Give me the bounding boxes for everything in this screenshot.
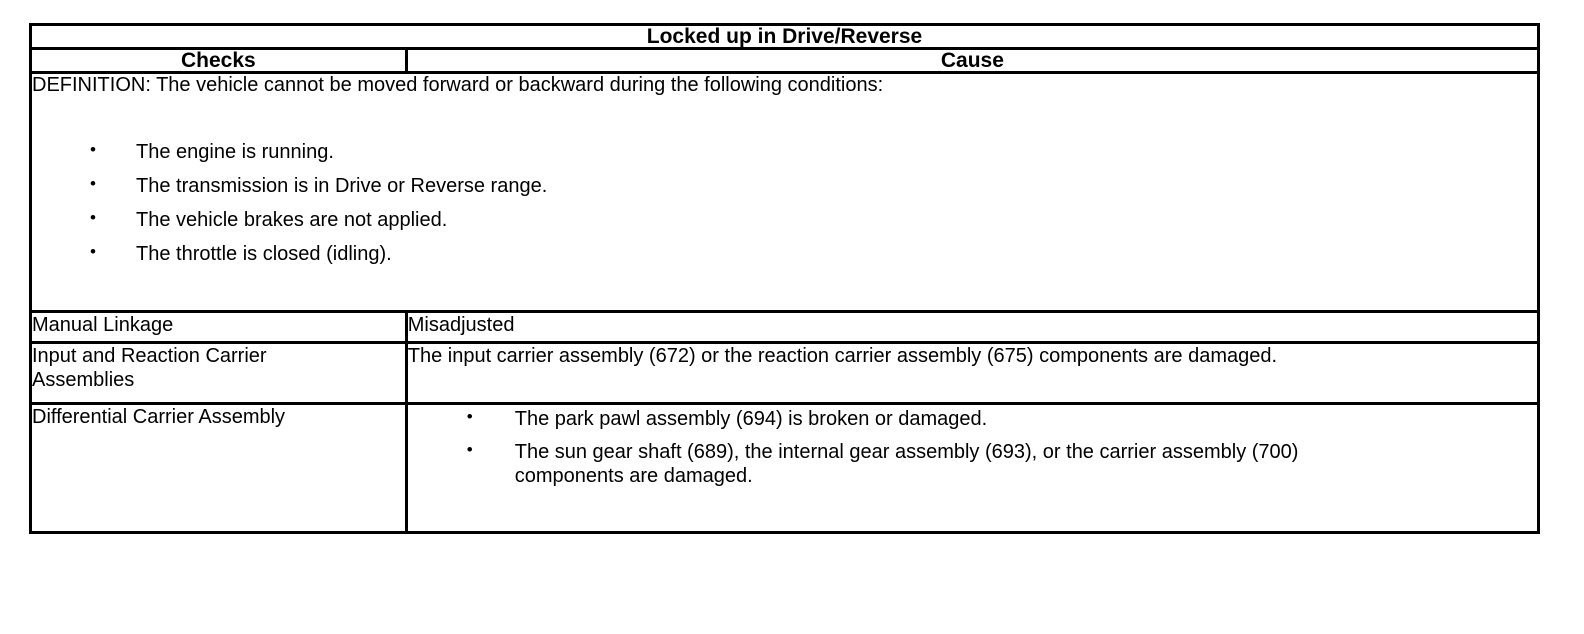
- cause-cell-differential-carrier-assembly: The park pawl assembly (694) is broken o…: [406, 404, 1538, 533]
- cause-cell-manual-linkage: Misadjusted: [406, 312, 1538, 343]
- list-item: The park pawl assembly (694) is broken o…: [408, 407, 1537, 431]
- table-row: Input and Reaction Carrier Assemblies Th…: [31, 343, 1539, 404]
- column-header-checks: Checks: [31, 49, 407, 73]
- column-header-cause: Cause: [406, 49, 1538, 73]
- table-row: Differential Carrier Assembly The park p…: [31, 404, 1539, 533]
- table-title-row: Locked up in Drive/Reverse: [31, 25, 1539, 49]
- check-label-line-2: Assemblies: [32, 369, 134, 391]
- definition-row: DEFINITION: The vehicle cannot be moved …: [31, 73, 1539, 312]
- definition-condition-list: The engine is running. The transmission …: [32, 142, 1537, 264]
- check-label-line-1: Input and Reaction Carrier: [32, 345, 267, 367]
- document-page: Locked up in Drive/Reverse Checks Cause …: [0, 0, 1584, 634]
- list-item-line-1: The park pawl assembly (694) is broken o…: [515, 408, 987, 430]
- cause-text: The input carrier assembly (672) or the …: [408, 344, 1537, 368]
- list-item: The transmission is in Drive or Reverse …: [32, 176, 1537, 196]
- table-column-header-row: Checks Cause: [31, 49, 1539, 73]
- check-label-manual-linkage: Manual Linkage: [31, 312, 407, 343]
- table-title: Locked up in Drive/Reverse: [31, 25, 1539, 49]
- list-item: The vehicle brakes are not applied.: [32, 210, 1537, 230]
- cause-text: Misadjusted: [408, 313, 1537, 337]
- list-item-line-2: components are damaged.: [515, 464, 1537, 488]
- check-label-input-reaction-carrier: Input and Reaction Carrier Assemblies: [31, 343, 407, 404]
- diagnostic-trouble-table: Locked up in Drive/Reverse Checks Cause …: [29, 23, 1540, 534]
- table-row: Manual Linkage Misadjusted: [31, 312, 1539, 343]
- list-item: The sun gear shaft (689), the internal g…: [408, 440, 1537, 488]
- list-item: The throttle is closed (idling).: [32, 244, 1537, 264]
- list-item-line-1: The sun gear shaft (689), the internal g…: [515, 441, 1299, 463]
- check-label-differential-carrier-assembly: Differential Carrier Assembly: [31, 404, 407, 533]
- cause-bullet-list: The park pawl assembly (694) is broken o…: [408, 407, 1537, 488]
- cause-cell-input-reaction-carrier: The input carrier assembly (672) or the …: [406, 343, 1538, 404]
- definition-intro-text: DEFINITION: The vehicle cannot be moved …: [32, 74, 1537, 98]
- definition-cell: DEFINITION: The vehicle cannot be moved …: [31, 73, 1539, 312]
- list-item: The engine is running.: [32, 142, 1537, 162]
